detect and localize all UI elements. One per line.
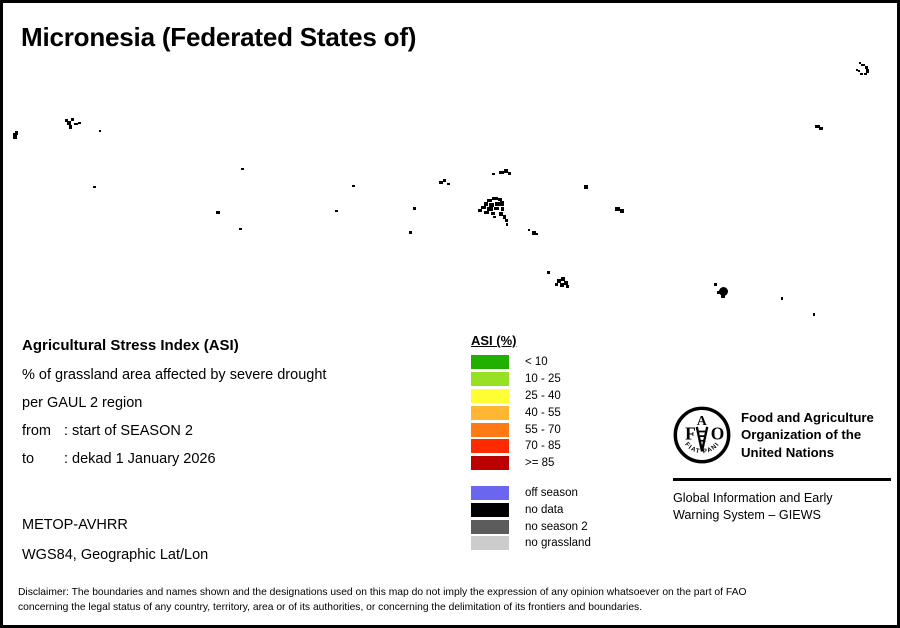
island-polygon: [508, 172, 511, 175]
island-polygon: [560, 283, 564, 287]
legend-label: >= 85: [525, 457, 554, 469]
island-polygon: [536, 233, 538, 235]
legend-item-no-grassland[interactable]: no grassland: [471, 535, 591, 552]
island-polygon: [413, 207, 416, 210]
island-polygon: [547, 271, 550, 274]
fao-logo-row: F A O FIAT PANIS Food and Agriculture Or…: [673, 406, 893, 469]
info-description-line-1: % of grassland area affected by severe d…: [22, 367, 452, 383]
to-label: to: [22, 451, 64, 467]
island-polygon: [239, 228, 242, 230]
map-canvas[interactable]: [3, 61, 897, 316]
fao-divider: [673, 478, 891, 481]
map-page: Micronesia (Federated States of): [0, 0, 900, 628]
legend-title: ASI (%): [471, 333, 517, 348]
island-polygon: [714, 283, 717, 286]
fao-emblem-icon: F A O FIAT PANIS: [673, 406, 731, 469]
island-polygon: [505, 219, 508, 222]
fao-organization-name: Food and Agriculture Organization of the…: [741, 406, 874, 461]
island-polygon: [856, 69, 858, 71]
disclaimer-line-1: Disclaimer: The boundaries and names sho…: [18, 586, 884, 601]
island-polygon: [484, 211, 489, 214]
fao-name-line-2: Organization of the: [741, 426, 874, 443]
island-polygon: [819, 127, 823, 130]
island-polygon: [781, 297, 783, 300]
island-polygon: [93, 186, 96, 188]
island-polygon: [813, 313, 815, 316]
legend-swatch-icon: [471, 423, 509, 437]
legend-item-asi-6[interactable]: >= 85: [471, 455, 591, 472]
info-block: Agricultural Stress Index (ASI) % of gra…: [22, 337, 452, 479]
giews-line-1: Global Information and Early: [673, 490, 893, 507]
info-heading: Agricultural Stress Index (ASI): [22, 337, 452, 354]
island-polygon: [555, 283, 558, 286]
fao-name-line-3: United Nations: [741, 444, 874, 461]
fao-branding-block: F A O FIAT PANIS Food and Agriculture Or…: [673, 406, 893, 525]
legend-label: 25 - 40: [525, 390, 561, 402]
giews-system-name: Global Information and Early Warning Sys…: [673, 490, 893, 525]
info-to-row: to: dekad 1 January 2026: [22, 451, 452, 467]
legend-swatch-icon: [471, 520, 509, 534]
island-polygon: [500, 201, 504, 206]
island-polygon: [493, 216, 496, 218]
svg-text:F: F: [685, 424, 696, 444]
legend-swatch-icon: [471, 372, 509, 386]
legend-label: off season: [525, 487, 578, 499]
island-polygon: [494, 207, 499, 210]
island-polygon: [335, 210, 338, 212]
legend-label: 70 - 85: [525, 440, 561, 452]
island-polygon: [506, 223, 508, 226]
legend-label: 10 - 25: [525, 373, 561, 385]
svg-text:O: O: [711, 424, 725, 444]
legend-item-asi-2[interactable]: 25 - 40: [471, 388, 591, 405]
legend-swatch-icon: [471, 355, 509, 369]
island-polygon: [352, 185, 355, 187]
island-polygon: [443, 179, 446, 182]
legend-swatch-icon: [471, 456, 509, 470]
info-description-line-2: per GAUL 2 region: [22, 395, 452, 411]
sensor-block: METOP-AVHRR WGS84, Geographic Lat/Lon: [22, 517, 208, 577]
legend-label: no season 2: [525, 521, 588, 533]
legend-label: < 10: [525, 356, 548, 368]
island-polygon: [620, 209, 624, 213]
to-value: : dekad 1 January 2026: [64, 451, 216, 467]
island-polygon: [566, 285, 569, 288]
giews-line-2: Warning System – GIEWS: [673, 507, 893, 524]
legend-label: 55 - 70: [525, 424, 561, 436]
legend-swatch-icon: [471, 439, 509, 453]
island-polygon: [99, 130, 101, 132]
legend-item-asi-1[interactable]: 10 - 25: [471, 371, 591, 388]
legend-item-asi-3[interactable]: 40 - 55: [471, 404, 591, 421]
island-polygon: [858, 70, 860, 72]
legend-swatch-icon: [471, 406, 509, 420]
from-value: : start of SEASON 2: [64, 423, 193, 439]
legend-spacer: [471, 472, 591, 485]
disclaimer-box: Disclaimer: The boundaries and names sho…: [6, 581, 894, 625]
legend-label: 40 - 55: [525, 407, 561, 419]
from-label: from: [22, 423, 64, 439]
legend-item-no-data[interactable]: no data: [471, 501, 591, 518]
legend-item-no-season-2[interactable]: no season 2: [471, 518, 591, 535]
island-polygon: [860, 73, 863, 75]
sensor-name: METOP-AVHRR: [22, 517, 208, 533]
island-polygon: [447, 183, 450, 185]
legend-item-asi-4[interactable]: 55 - 70: [471, 421, 591, 438]
island-polygon: [216, 211, 220, 214]
island-polygon: [69, 125, 72, 129]
island-polygon: [528, 229, 530, 231]
info-from-row: from: start of SEASON 2: [22, 423, 452, 439]
legend-swatch-icon: [471, 536, 509, 550]
island-polygon: [864, 73, 867, 75]
island-polygon: [78, 122, 81, 124]
legend-label: no data: [525, 504, 563, 516]
island-polygon: [71, 118, 74, 121]
legend-label: no grassland: [525, 537, 591, 549]
island-polygon: [501, 207, 504, 211]
legend-item-asi-5[interactable]: 70 - 85: [471, 438, 591, 455]
legend-swatch-icon: [471, 486, 509, 500]
legend-item-asi-0[interactable]: < 10: [471, 354, 591, 371]
island-polygon: [721, 295, 725, 298]
map-legend: ASI (%) < 10 10 - 25 25 - 40 40 - 55 55 …: [471, 332, 591, 552]
island-polygon: [241, 168, 244, 170]
island-polygon: [492, 173, 495, 175]
island-polygon: [717, 291, 720, 294]
island-polygon: [478, 209, 482, 212]
fao-name-line-1: Food and Agriculture: [741, 409, 874, 426]
page-title: Micronesia (Federated States of): [21, 22, 416, 53]
svg-text:A: A: [697, 414, 707, 429]
legend-swatch-icon: [471, 389, 509, 403]
disclaimer-line-2: concerning the legal status of any count…: [18, 601, 884, 616]
island-polygon: [584, 185, 588, 189]
island-polygon: [491, 212, 495, 215]
island-polygon: [409, 231, 412, 234]
island-polygon: [15, 131, 18, 135]
legend-swatch-icon: [471, 503, 509, 517]
map-projection: WGS84, Geographic Lat/Lon: [22, 547, 208, 563]
legend-item-off-season[interactable]: off season: [471, 485, 591, 502]
